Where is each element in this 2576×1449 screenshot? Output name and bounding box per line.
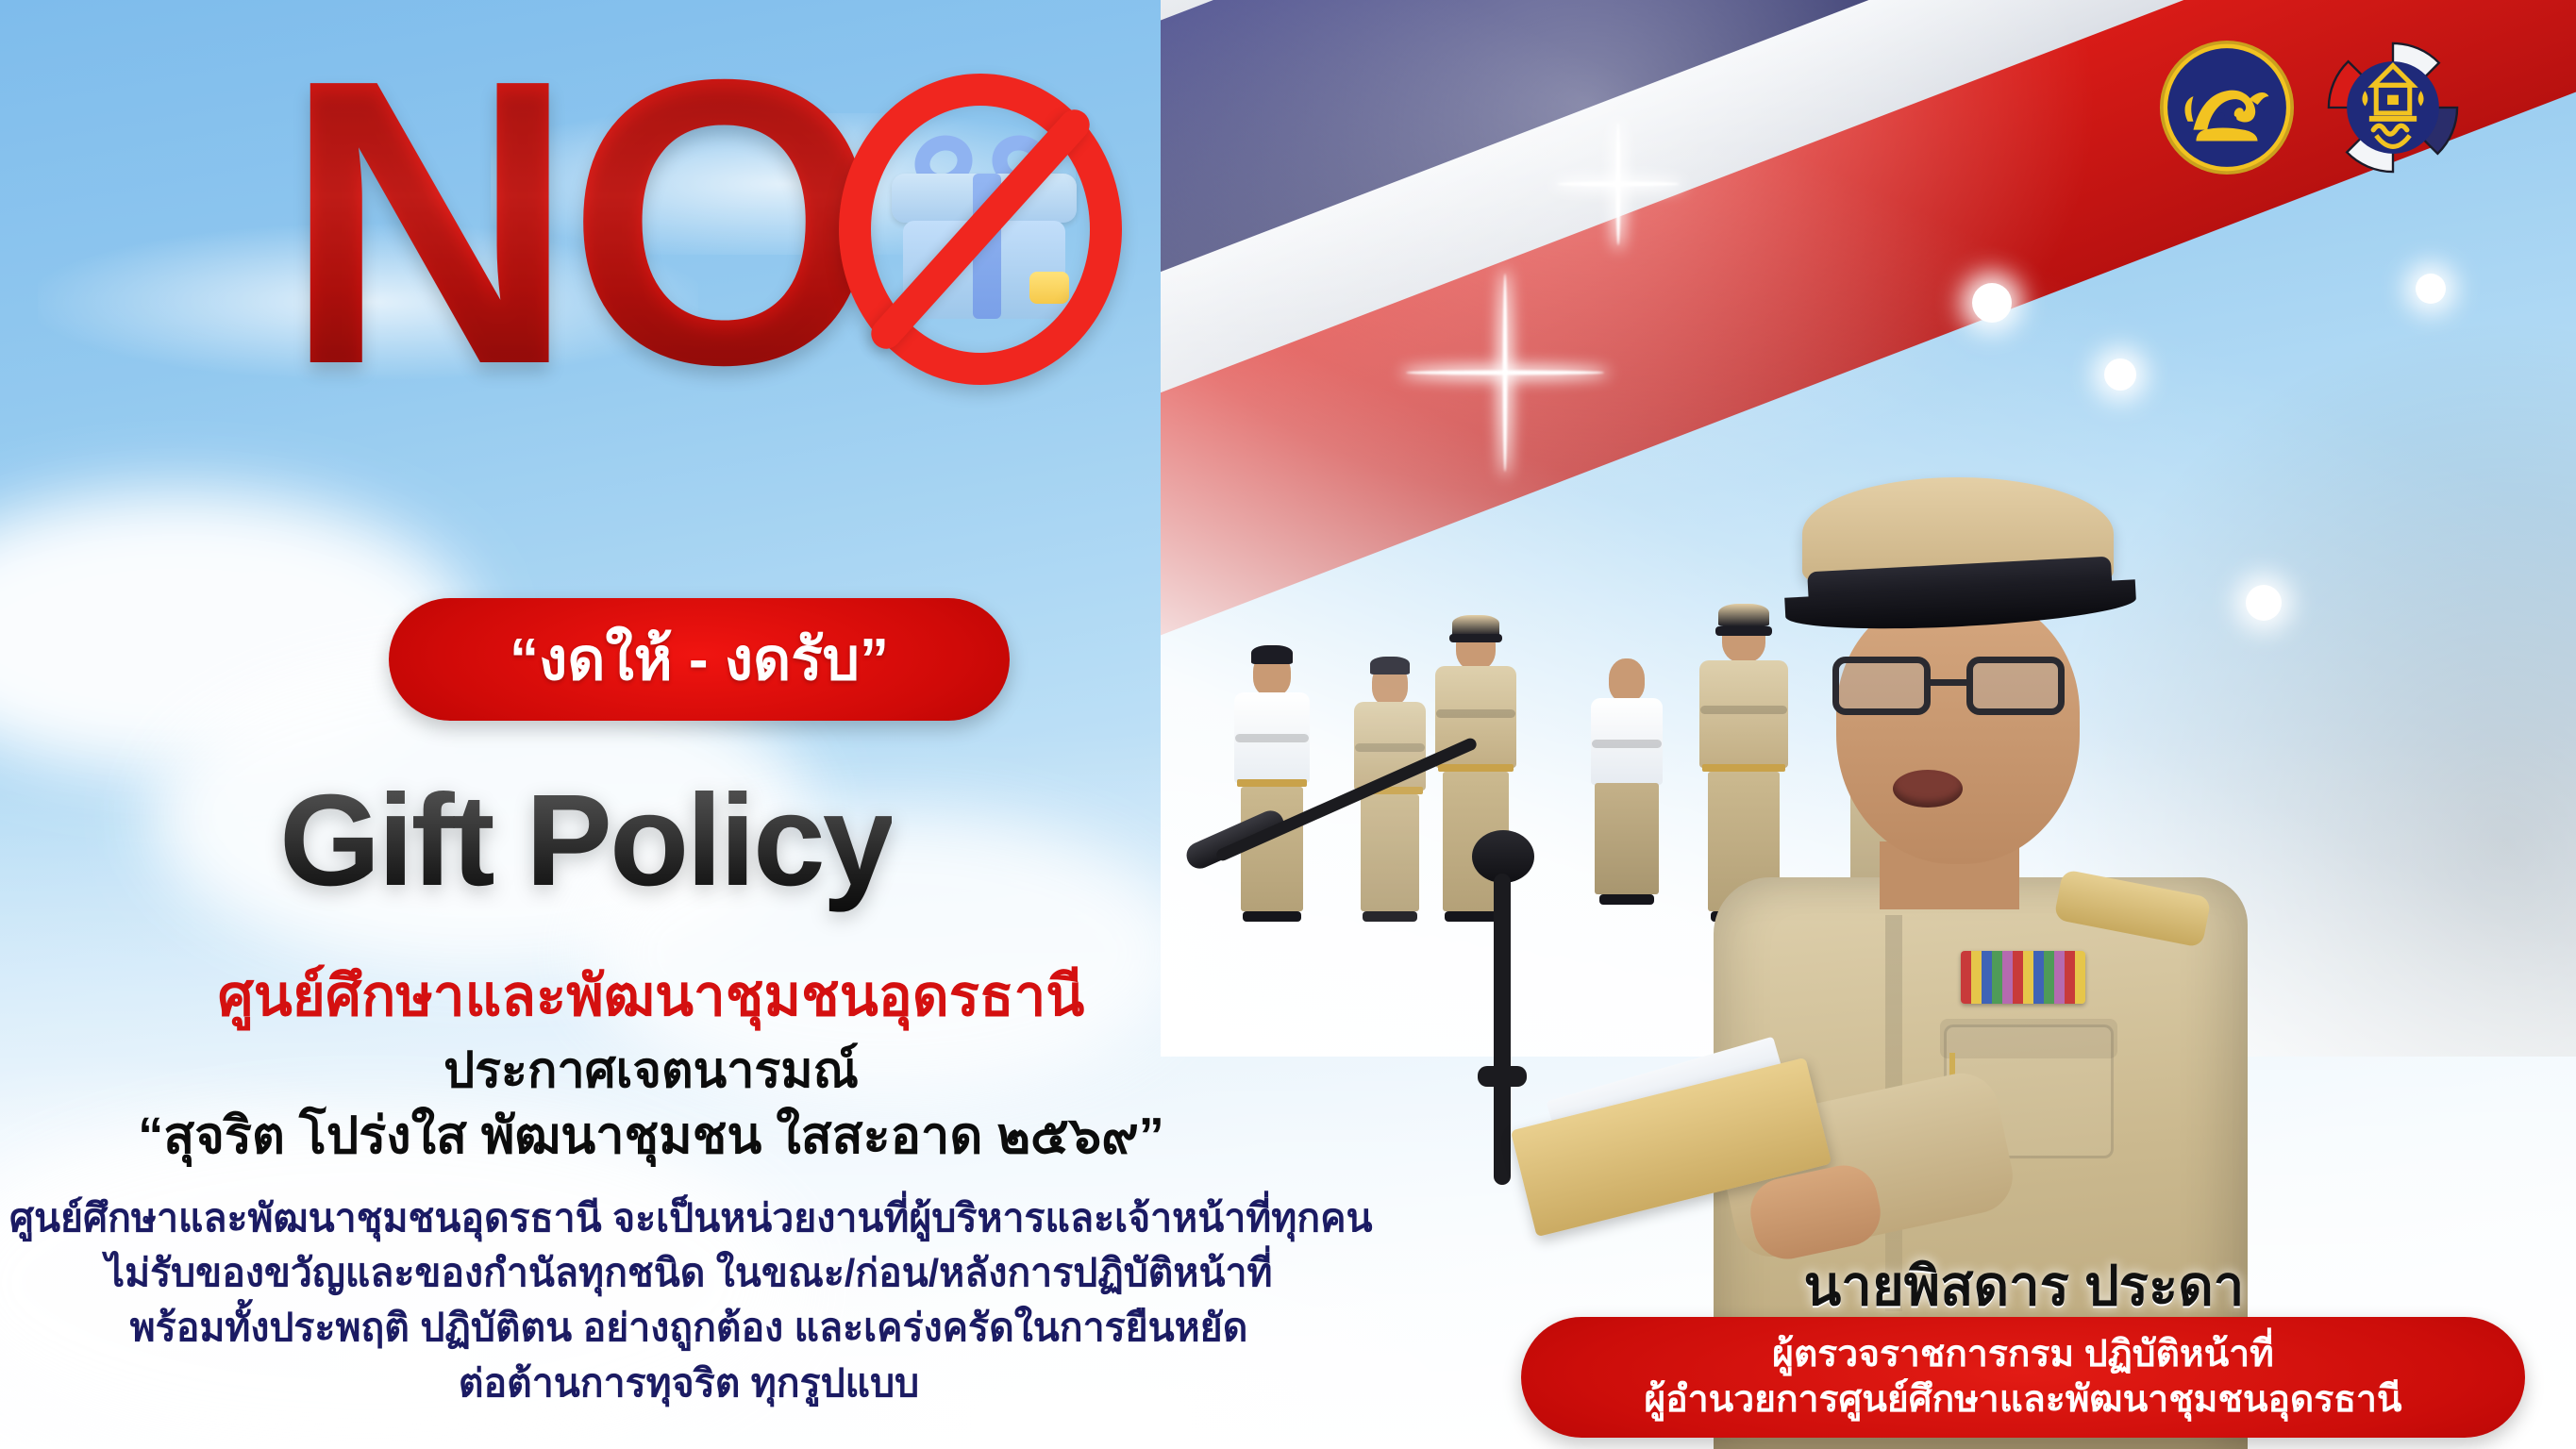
official-figure [1227,651,1317,924]
speaker-epaulette [2053,869,2211,948]
official-figure [1427,623,1525,924]
lens-flare-icon [1868,528,1912,572]
speaker-pocket-flap [1940,1019,2117,1058]
no-headline-text: NO [283,57,873,390]
no-headline-row: NO [283,57,1122,390]
community-development-department-emblem [2323,38,2463,177]
quote-pill-text: “งดให้ - งดรับ” [510,613,889,706]
speaker-ribbon-bar [1961,951,2085,1004]
motto-text: “สุจริต โปร่งใส พัฒนาชุมชน ใสสะอาด ๒๕๖๙” [0,1094,1302,1175]
center-name-heading: ศูนย์ศึกษาและพัฒนาชุมชนอุดรธานี [0,951,1302,1041]
pledge-line: ไม่รับของขวัญและของกำนัลทุกชนิด ในขณะ/ก่… [9,1245,1368,1300]
official-figure [1904,625,2004,924]
lens-flare-icon [2104,358,2136,391]
speaker-face [1836,594,2080,864]
ministry-of-interior-singha-emblem [2157,38,2297,177]
microphone-adjust-knob [1478,1066,1527,1087]
sparkle-icon [1406,274,1604,472]
emblem-group [2157,38,2463,177]
speaker-eyeglasses-icon [1832,657,2065,715]
speaker-title-line: ผู้อำนวยการศูนย์ศึกษาและพัฒนาชุมชนอุดรธา… [1644,1379,2401,1421]
official-figure [1347,662,1432,924]
speaker-mouth [1893,770,1963,808]
lens-flare-icon [2416,274,2446,304]
speaker-title-badge: ผู้ตรวจราชการกรม ปฏิบัติหน้าที่ ผู้อำนวย… [1521,1317,2525,1438]
official-figure [1583,658,1670,924]
official-figure [1691,613,1797,924]
poster-canvas: NO “งดให้ - งดรับ” Gift Policy ศูนย์ศึกษ… [0,0,2576,1449]
speaker-cap-band [1807,557,2113,610]
speaker-chest-pocket [1944,1024,2114,1158]
microphone-pole [1494,874,1511,1185]
microphone-capsule [1182,807,1288,873]
lens-flare-icon [2246,585,2282,621]
quote-pill-badge: “งดให้ - งดรับ” [389,598,1010,721]
gift-policy-title: Gift Policy [279,766,892,916]
speaker-neck [1880,841,2019,909]
speaker-arm [1714,1066,2020,1263]
speaker-document-sheet [1547,1037,1789,1157]
speaker-peaked-cap [1802,477,2114,591]
speaker-cap-brim [1784,579,2137,635]
sparkle-icon [1557,123,1680,245]
official-figure [1838,641,1921,924]
lens-flare-icon [1972,283,2012,323]
officials-photo-group [1227,528,2217,924]
pledge-line: ต่อต้านการทุจริต ทุกรูปแบบ [9,1356,1368,1410]
speaker-folder [1511,1058,1832,1237]
microphone-boom-arm [1214,737,1478,863]
speaker-title-line: ผู้ตรวจราชการกรม ปฏิบัติหน้าที่ [1772,1334,2274,1375]
speaker-medal-icon [1936,1053,1968,1109]
pledge-line: ศูนย์ศึกษาและพัฒนาชุมชนอุดรธานี จะเป็นหน… [9,1191,1368,1245]
pledge-paragraph: ศูนย์ศึกษาและพัฒนาชุมชนอุดรธานี จะเป็นหน… [9,1191,1368,1410]
pledge-line: พร้อมทั้งประพฤติ ปฏิบัติตน อย่างถูกต้อง … [9,1300,1368,1355]
prohibition-sign-icon [839,74,1122,385]
microphone-clutch [1472,830,1534,883]
